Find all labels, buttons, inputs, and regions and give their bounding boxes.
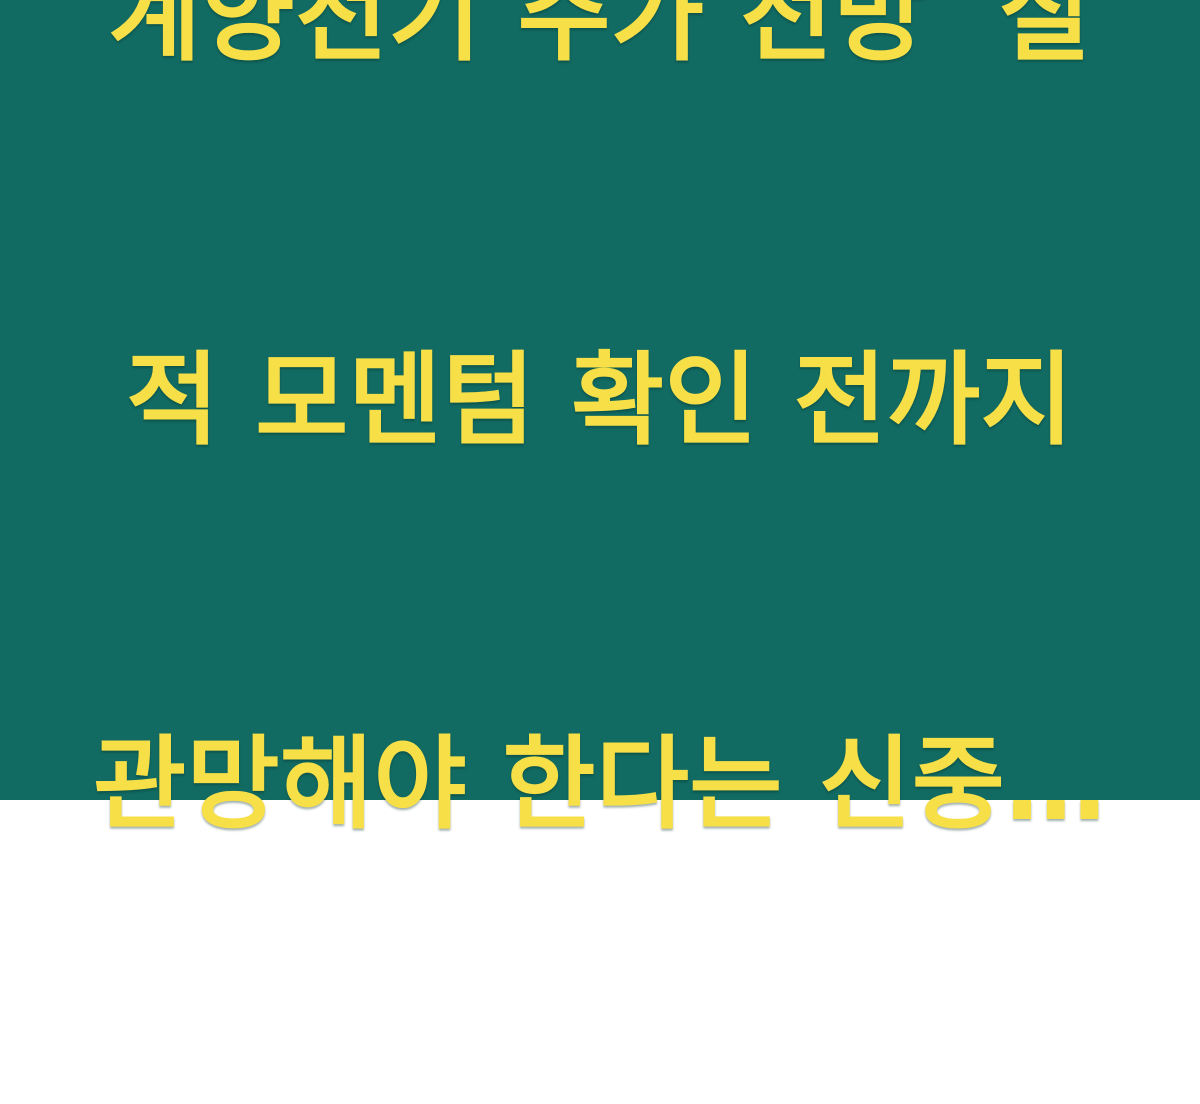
headline-card: 계양전기 주가 전망 실 적 모멘텀 확인 전까지 관망해야 한다는 신중… [0,0,1200,800]
headline-line-1: 계양전기 주가 전망 실 [88,0,1112,80]
headline-line-3: 관망해야 한다는 신중… [88,720,1112,848]
headline-title: 계양전기 주가 전망 실 적 모멘텀 확인 전까지 관망해야 한다는 신중… [88,0,1112,1104]
headline-line-2: 적 모멘텀 확인 전까지 [88,336,1112,464]
